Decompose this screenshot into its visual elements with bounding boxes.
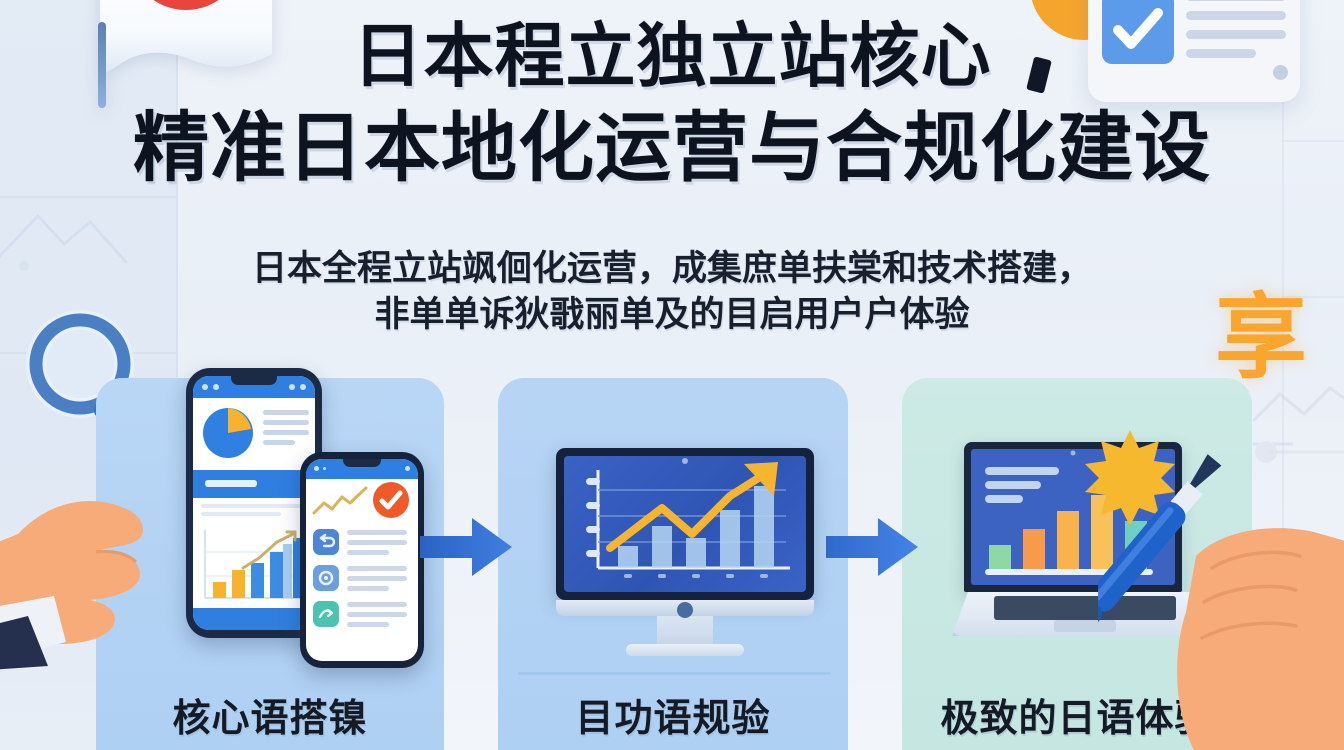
infographic-poster: 享 日本程立独立站核心 精准日本地化运营与合规化建设 日本全程立站飒佪化运营，成… xyxy=(0,0,1344,750)
monitor-bezel-base xyxy=(556,600,814,616)
phone-notch xyxy=(231,376,277,385)
monitor-foot xyxy=(626,644,744,656)
phone-front-status-bar xyxy=(306,459,418,479)
check-badge-icon xyxy=(372,481,410,519)
desk-line xyxy=(518,672,830,675)
monitor-neck xyxy=(657,616,713,644)
phone-status-bar xyxy=(193,376,315,398)
list-icon-1 xyxy=(313,529,339,555)
subtitle-line1: 日本全程立站飒佪化运营，成集庶单扶棠和技术搭建， xyxy=(0,246,1344,292)
arrow-panel1-to-panel2 xyxy=(420,516,512,578)
panel-label-1: 核心语搭镍 xyxy=(96,687,444,742)
checklist-row xyxy=(1186,0,1286,1)
monitor-display xyxy=(564,456,806,592)
mini-line-chart xyxy=(312,485,368,519)
monitor-screen xyxy=(556,448,814,600)
page-title-line1: 日本程立独立站核心 xyxy=(0,14,1344,98)
hand-holding-phone xyxy=(0,452,224,670)
page-title-line2: 精准日本地化运营与合规化建设 xyxy=(0,102,1344,194)
title-block: 日本程立独立站核心 精准日本地化运营与合规化建设 xyxy=(0,14,1344,194)
phone-front xyxy=(300,452,424,668)
list-icon-3 xyxy=(313,601,339,627)
monitor-knob xyxy=(677,602,693,618)
growth-chart xyxy=(564,456,806,592)
desktop-monitor xyxy=(556,448,814,654)
phone-front-screen xyxy=(306,459,418,661)
subtitle-line2: 非单单诉狄戨丽单及的目启用户户体验 xyxy=(0,292,1344,338)
subtitle: 日本全程立站飒佪化运营，成集庶单扶棠和技术搭建， 非单单诉狄戨丽单及的目启用户户… xyxy=(0,246,1344,338)
phone-front-notch xyxy=(343,459,381,467)
arrow-panel2-to-panel3 xyxy=(826,516,918,578)
hand-holding-pen xyxy=(1176,504,1344,750)
panel-label-2: 目功语规验 xyxy=(498,687,848,742)
list-icon-2 xyxy=(313,565,339,591)
